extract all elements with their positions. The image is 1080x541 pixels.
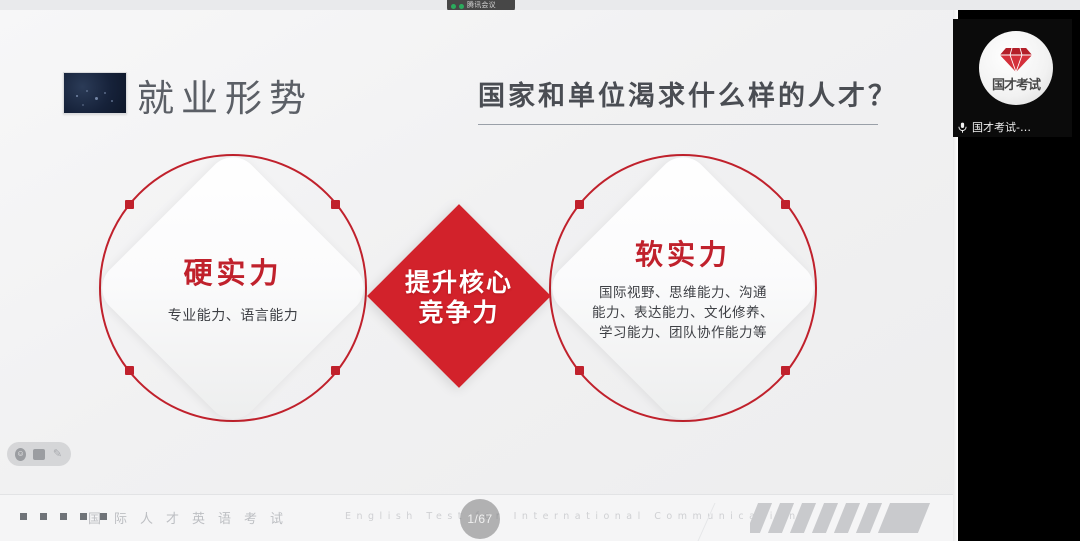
avatar: 国才考试 bbox=[979, 31, 1053, 105]
meeting-screen: 腾讯会议 就业形势 国家和单位渴求什么样的人才？ 硬实力 专 bbox=[0, 0, 1080, 541]
night-sky-thumbnail-icon bbox=[63, 72, 127, 114]
participant-name-row: 国才考试-… bbox=[956, 119, 1070, 135]
footer-square-icon bbox=[80, 513, 87, 520]
participant-name: 国才考试-… bbox=[972, 119, 1031, 135]
pillar-subtitle: 专业能力、语言能力 bbox=[168, 306, 299, 326]
pillar-subtitle-line: 学习能力、团队协作能力等 bbox=[592, 323, 774, 343]
annotation-toolbar[interactable]: ☺ ✎ bbox=[7, 442, 71, 466]
slide-heading-right: 国家和单位渴求什么样的人才？ bbox=[478, 74, 898, 113]
red-diamond-gem-logo-icon bbox=[999, 46, 1033, 73]
pillar-content: 软实力 国际视野、思维能力、沟通 能力、表达能力、文化修养、 学习能力、团队协作… bbox=[549, 154, 817, 422]
status-dot-icon bbox=[451, 4, 456, 9]
center-diamond-label: 提升核心 竞争力 bbox=[384, 258, 534, 338]
center-label-line2: 竞争力 bbox=[418, 298, 499, 329]
pillar-subtitle: 国际视野、思维能力、沟通 能力、表达能力、文化修养、 学习能力、团队协作能力等 bbox=[592, 283, 774, 344]
center-label-line1: 提升核心 bbox=[405, 268, 513, 299]
heading-underline bbox=[478, 124, 878, 125]
pillar-title: 硬实力 bbox=[183, 250, 282, 292]
caption-icon[interactable] bbox=[33, 449, 45, 460]
page-indicator: 1/67 bbox=[460, 499, 500, 539]
pen-icon[interactable]: ✎ bbox=[52, 448, 63, 461]
participant-video-tile[interactable]: 国才考试 国才考试-… bbox=[953, 19, 1072, 137]
footer-square-icon bbox=[40, 513, 47, 520]
top-strip bbox=[0, 0, 1080, 10]
pillar-subtitle-line: 能力、表达能力、文化修养、 bbox=[592, 303, 774, 323]
footer-square-icon bbox=[20, 513, 27, 520]
shared-slide-stage[interactable]: 就业形势 国家和单位渴求什么样的人才？ 硬实力 专业能力、语言能力 bbox=[0, 10, 953, 541]
footer-brand-cn: 国际人才英语考试 bbox=[88, 508, 296, 527]
participant-video-column: 国才考试 国才考试-… bbox=[953, 10, 1080, 541]
pillar-hard-power: 硬实力 专业能力、语言能力 bbox=[99, 154, 367, 422]
slide-canvas: 就业形势 国家和单位渴求什么样的人才？ 硬实力 专业能力、语言能力 bbox=[0, 10, 953, 541]
pillar-title: 软实力 bbox=[635, 233, 731, 273]
slide-heading-left: 就业形势 bbox=[137, 68, 313, 122]
status-dot-secondary-icon bbox=[459, 4, 464, 9]
pillar-soft-power: 软实力 国际视野、思维能力、沟通 能力、表达能力、文化修养、 学习能力、团队协作… bbox=[549, 154, 817, 422]
pillar-subtitle-line: 专业能力、语言能力 bbox=[168, 306, 299, 326]
pillar-subtitle-line: 国际视野、思维能力、沟通 bbox=[592, 283, 774, 303]
emoji-icon[interactable]: ☺ bbox=[15, 448, 26, 461]
microphone-icon bbox=[956, 120, 969, 135]
pillar-content: 硬实力 专业能力、语言能力 bbox=[99, 154, 367, 422]
footer-stripes-decoration bbox=[750, 503, 935, 533]
avatar-label: 国才考试 bbox=[992, 74, 1040, 93]
footer-square-icon bbox=[60, 513, 67, 520]
